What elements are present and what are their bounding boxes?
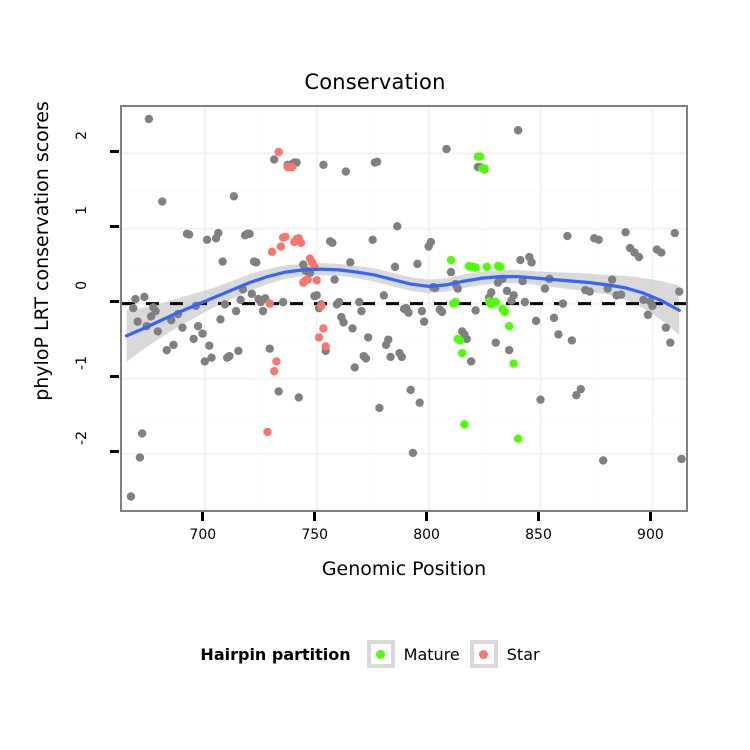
x-axis-title: Genomic Position: [120, 558, 688, 580]
legend-key-star: [470, 640, 498, 668]
chart-title: Conservation: [0, 70, 750, 94]
plot-panel: [120, 105, 688, 512]
legend-title: Hairpin partition: [200, 645, 350, 664]
chart-legend: Hairpin partition Mature Star: [0, 640, 750, 668]
y-tick-mark: [110, 450, 119, 453]
y-tick-label: 0: [74, 281, 90, 321]
legend-item-mature[interactable]: Mature: [367, 640, 460, 668]
x-tick-label: 850: [509, 527, 569, 543]
y-tick-label: -1: [74, 356, 90, 396]
legend-label-star: Star: [507, 645, 540, 664]
y-tick-label: 2: [74, 131, 90, 171]
legend-key-mature: [367, 640, 395, 668]
legend-item-star[interactable]: Star: [470, 640, 540, 668]
y-tick-label: 1: [74, 206, 90, 246]
x-tick-mark: [425, 512, 428, 521]
y-tick-mark: [110, 225, 119, 228]
x-tick-label: 700: [173, 527, 233, 543]
x-tick-mark: [313, 512, 316, 521]
legend-label-mature: Mature: [404, 645, 460, 664]
x-tick-label: 750: [285, 527, 345, 543]
legend-dot-star: [479, 650, 488, 659]
x-tick-mark: [537, 512, 540, 521]
y-tick-mark: [110, 375, 119, 378]
y-tick-mark: [110, 150, 119, 153]
y-tick-mark: [110, 300, 119, 303]
chart-figure: Conservation phyloP LRT conservation sco…: [0, 0, 750, 750]
plot-svg: [122, 107, 686, 510]
y-tick-label: -2: [74, 431, 90, 471]
x-tick-mark: [201, 512, 204, 521]
x-tick-label: 800: [397, 527, 457, 543]
legend-dot-mature: [376, 650, 385, 659]
x-tick-mark: [649, 512, 652, 521]
x-tick-label: 900: [620, 527, 680, 543]
y-axis-title: phyloP LRT conservation scores: [31, 41, 53, 461]
